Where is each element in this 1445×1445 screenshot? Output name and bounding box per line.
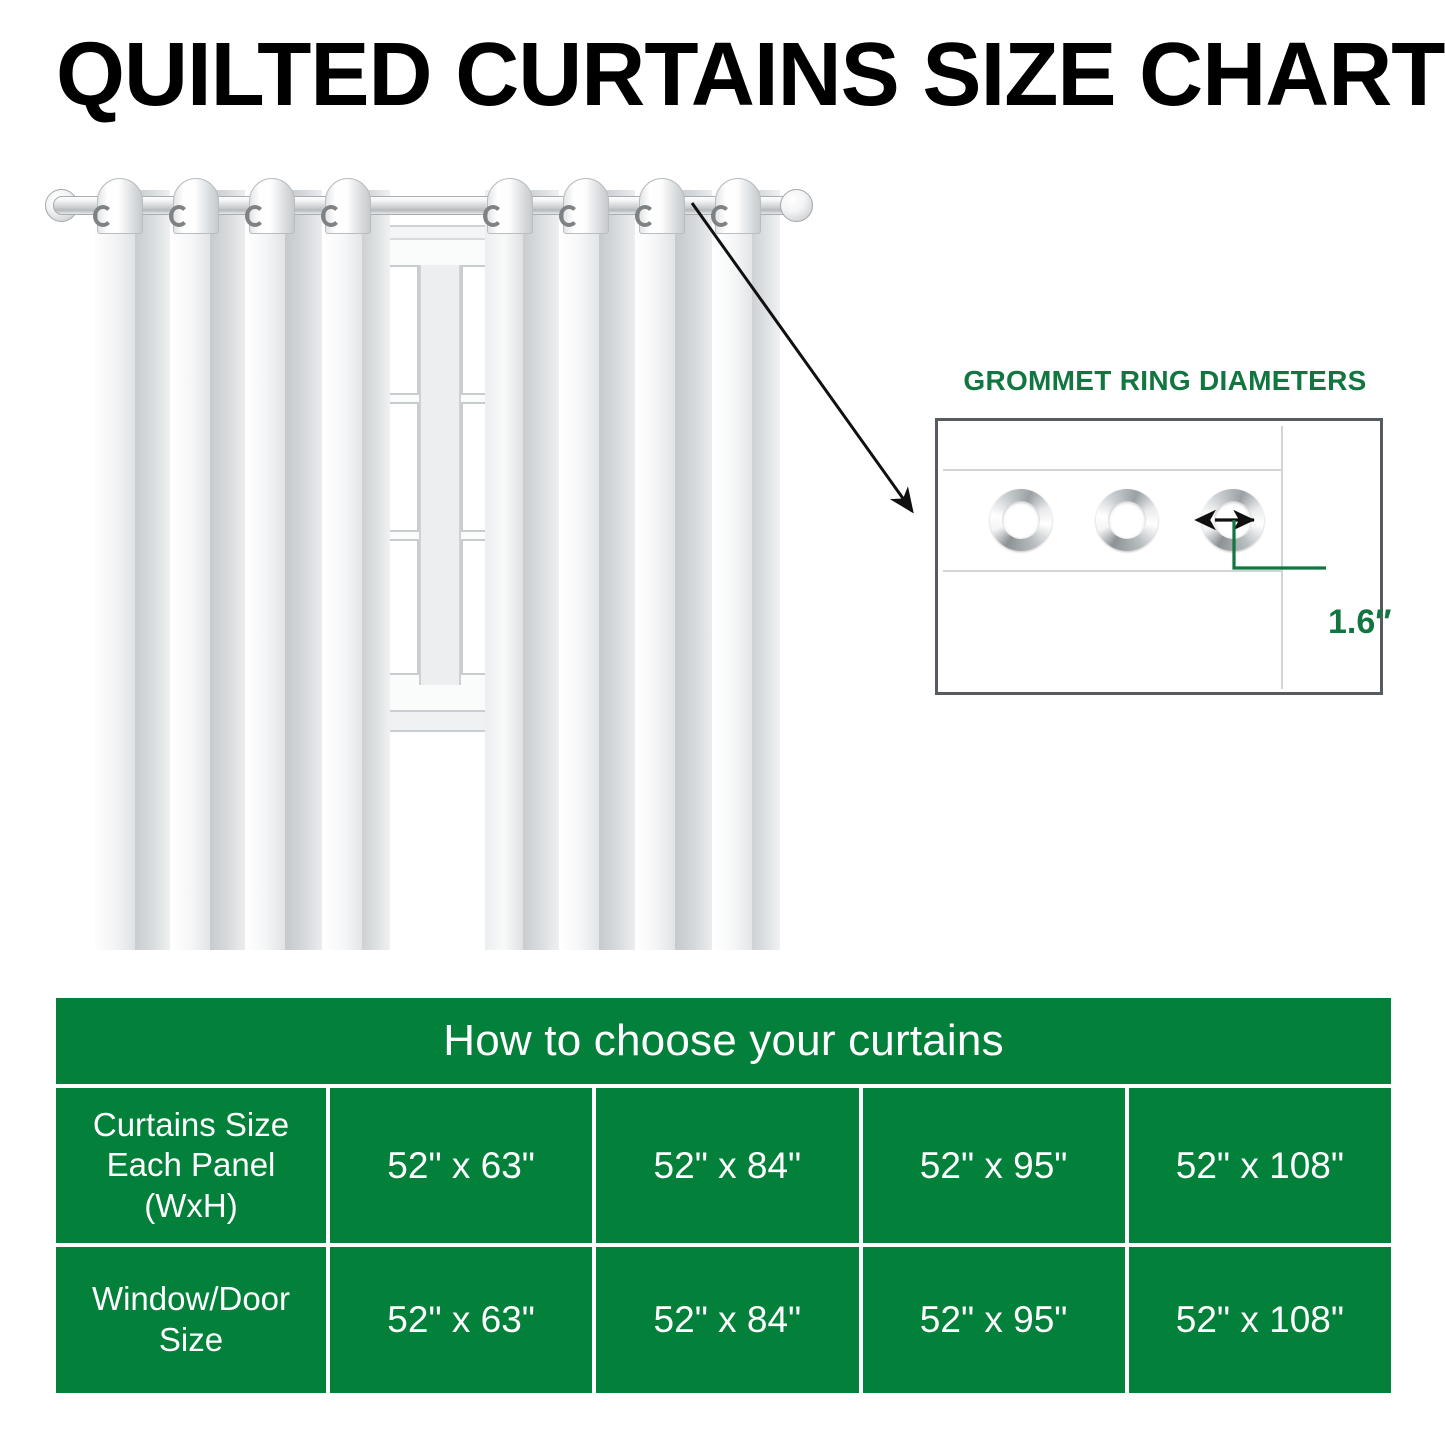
grommet-ring-icon [711,205,731,227]
curtain-panel-right [485,190,780,950]
rod-finial-right [780,189,813,222]
grommet-ring-icon [635,205,655,227]
grommet-ring-icon [169,205,189,227]
grommet-ring-icon [93,205,113,227]
grommet-detail-section: GROMMET RING DIAMETERS [925,365,1395,705]
curtain-grommet-tab [173,178,219,234]
curtain-fold [712,190,752,950]
size-table: How to choose your curtains Curtains Siz… [56,998,1391,1393]
row-label-curtains-size: Curtains Size Each Panel (WxH) [56,1088,326,1243]
grommet-section-heading: GROMMET RING DIAMETERS [935,365,1395,397]
curtain-fold [675,190,712,950]
curtain-fold [599,190,635,950]
curtain-grommet-tab [715,178,761,234]
curtain-fold [559,190,599,950]
dimension-indicator [938,421,1386,698]
row-label-line: Each Panel [107,1146,276,1183]
table-cell: 52" x 84" [596,1088,858,1243]
curtain-grommet-tab [639,178,685,234]
curtain-grommet-tab [487,178,533,234]
curtain-fold [285,190,322,950]
curtain-grommet-tab [563,178,609,234]
curtain-grommet-tab [325,178,371,234]
table-cell: 52" x 95" [863,1088,1125,1243]
table-cell: 52" x 108" [1129,1247,1391,1393]
curtain-fold [485,190,523,950]
curtain-fold [245,190,285,950]
row-label-line: Size [159,1321,223,1358]
row-label-line: Window/Door [92,1280,290,1317]
curtain-fold [523,190,559,950]
curtain-fold [170,190,210,950]
curtain-fold [95,190,135,950]
window-mullion [419,265,461,685]
curtain-fold [635,190,675,950]
grommet-diameter-label: 1.6″ [1328,603,1392,642]
table-row: Curtains Size Each Panel (WxH) 52" x 63"… [56,1088,1391,1243]
row-label-line: (WxH) [144,1187,237,1224]
curtain-fold [135,190,170,950]
grommet-ring-icon [483,205,503,227]
grommet-ring-icon [559,205,579,227]
table-row: Window/Door Size 52" x 63" 52" x 84" 52"… [56,1247,1391,1393]
curtain-fold [322,190,362,950]
table-cell: 52" x 108" [1129,1088,1391,1243]
curtain-grommet-tab [249,178,295,234]
row-label-line: Curtains Size [93,1106,289,1143]
grommet-ring-icon [245,205,265,227]
curtain-illustration [45,170,805,970]
table-cell: 52" x 95" [863,1247,1125,1393]
curtain-panel-left [95,190,390,950]
table-cell: 52" x 84" [596,1247,858,1393]
curtain-fold [752,190,780,950]
curtain-grommet-tab [97,178,143,234]
curtain-fold [210,190,245,950]
curtain-fold [362,190,390,950]
grommet-ring-icon [321,205,341,227]
grommet-detail-box: 1.6″ [935,418,1383,695]
curtain-rod [53,196,798,215]
row-label-window-door-size: Window/Door Size [56,1247,326,1393]
table-header: How to choose your curtains [56,998,1391,1084]
page-title: QUILTED CURTAINS SIZE CHART [56,30,1376,120]
table-cell: 52" x 63" [330,1088,592,1243]
size-chart-page: QUILTED CURTAINS SIZE CHART [0,0,1445,1445]
table-cell: 52" x 63" [330,1247,592,1393]
